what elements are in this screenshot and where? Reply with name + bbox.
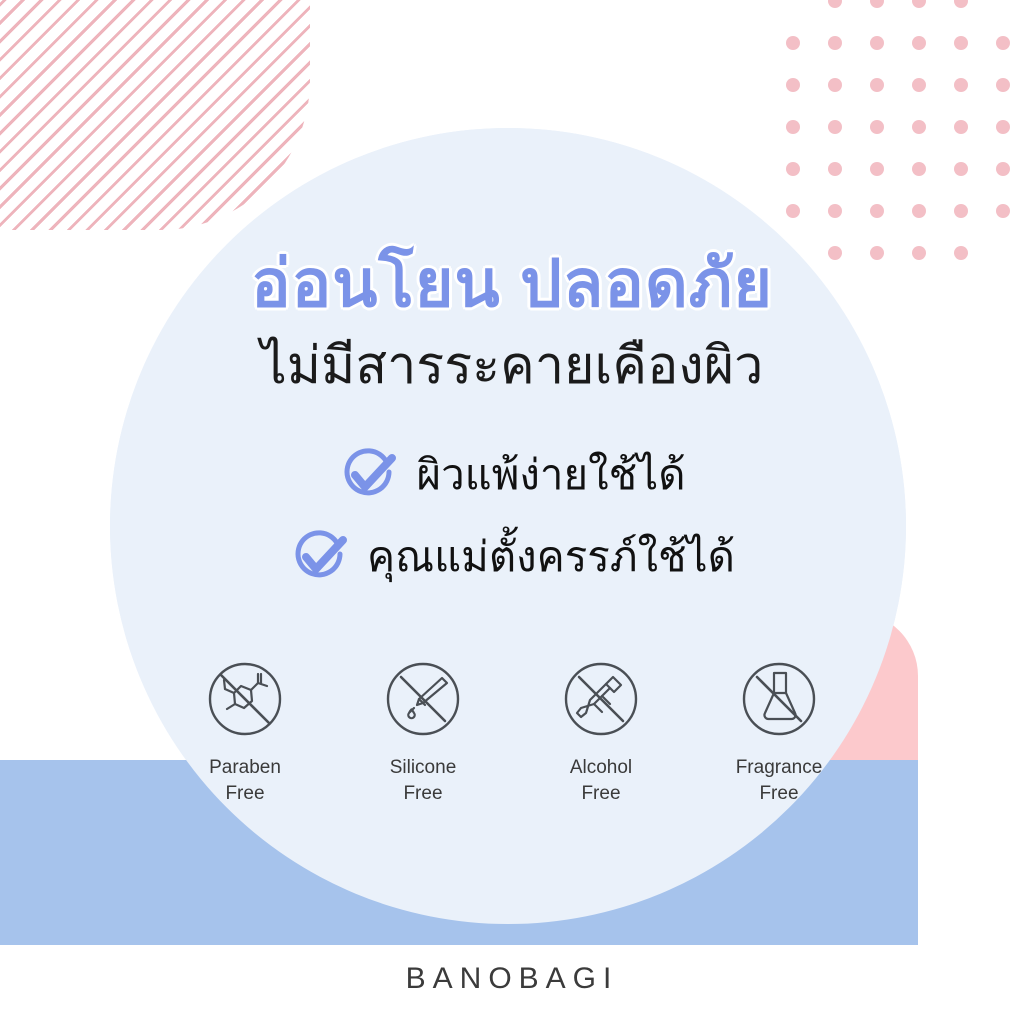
badge-alcohol-free: Alcohol Free [546,655,656,806]
badge-label: Alcohol Free [570,757,632,804]
page-title: อ่อนโยน ปลอดภัย [0,247,1024,321]
check-circle-icon [338,445,398,505]
badge-fragrance-free: Fragrance Free [724,655,834,806]
free-of-badge-row: Paraben Free Silicone Fre [0,655,1024,806]
no-alcohol-icon [557,655,645,743]
list-item: คุณแม่ตั้งครรภ์ใช้ได้ [0,527,1024,587]
promo-graphic: อ่อนโยน ปลอดภัย ไม่มีสารระคายเคืองผิว ผิ… [0,0,1024,1024]
brand-wordmark: BANOBAGI [0,962,1024,996]
badge-label: Fragrance Free [736,757,823,804]
badge-paraben-free: Paraben Free [190,655,300,806]
badge-silicone-free: Silicone Free [368,655,478,806]
benefit-label: คุณแม่ตั้งครรภ์ใช้ได้ [367,531,735,584]
benefit-list: ผิวแพ้ง่ายใช้ได้ คุณแม่ตั้งครรภ์ใช้ได้ [0,445,1024,609]
no-silicone-icon [379,655,467,743]
badge-label: Paraben Free [209,757,281,804]
page-subtitle: ไม่มีสารระคายเคืองผิว [0,335,1024,397]
badge-label: Silicone Free [390,757,457,804]
list-item: ผิวแพ้ง่ายใช้ได้ [0,445,1024,505]
benefit-label: ผิวแพ้ง่ายใช้ได้ [416,449,685,502]
no-paraben-icon [201,655,289,743]
check-circle-icon [289,527,349,587]
no-fragrance-icon [735,655,823,743]
